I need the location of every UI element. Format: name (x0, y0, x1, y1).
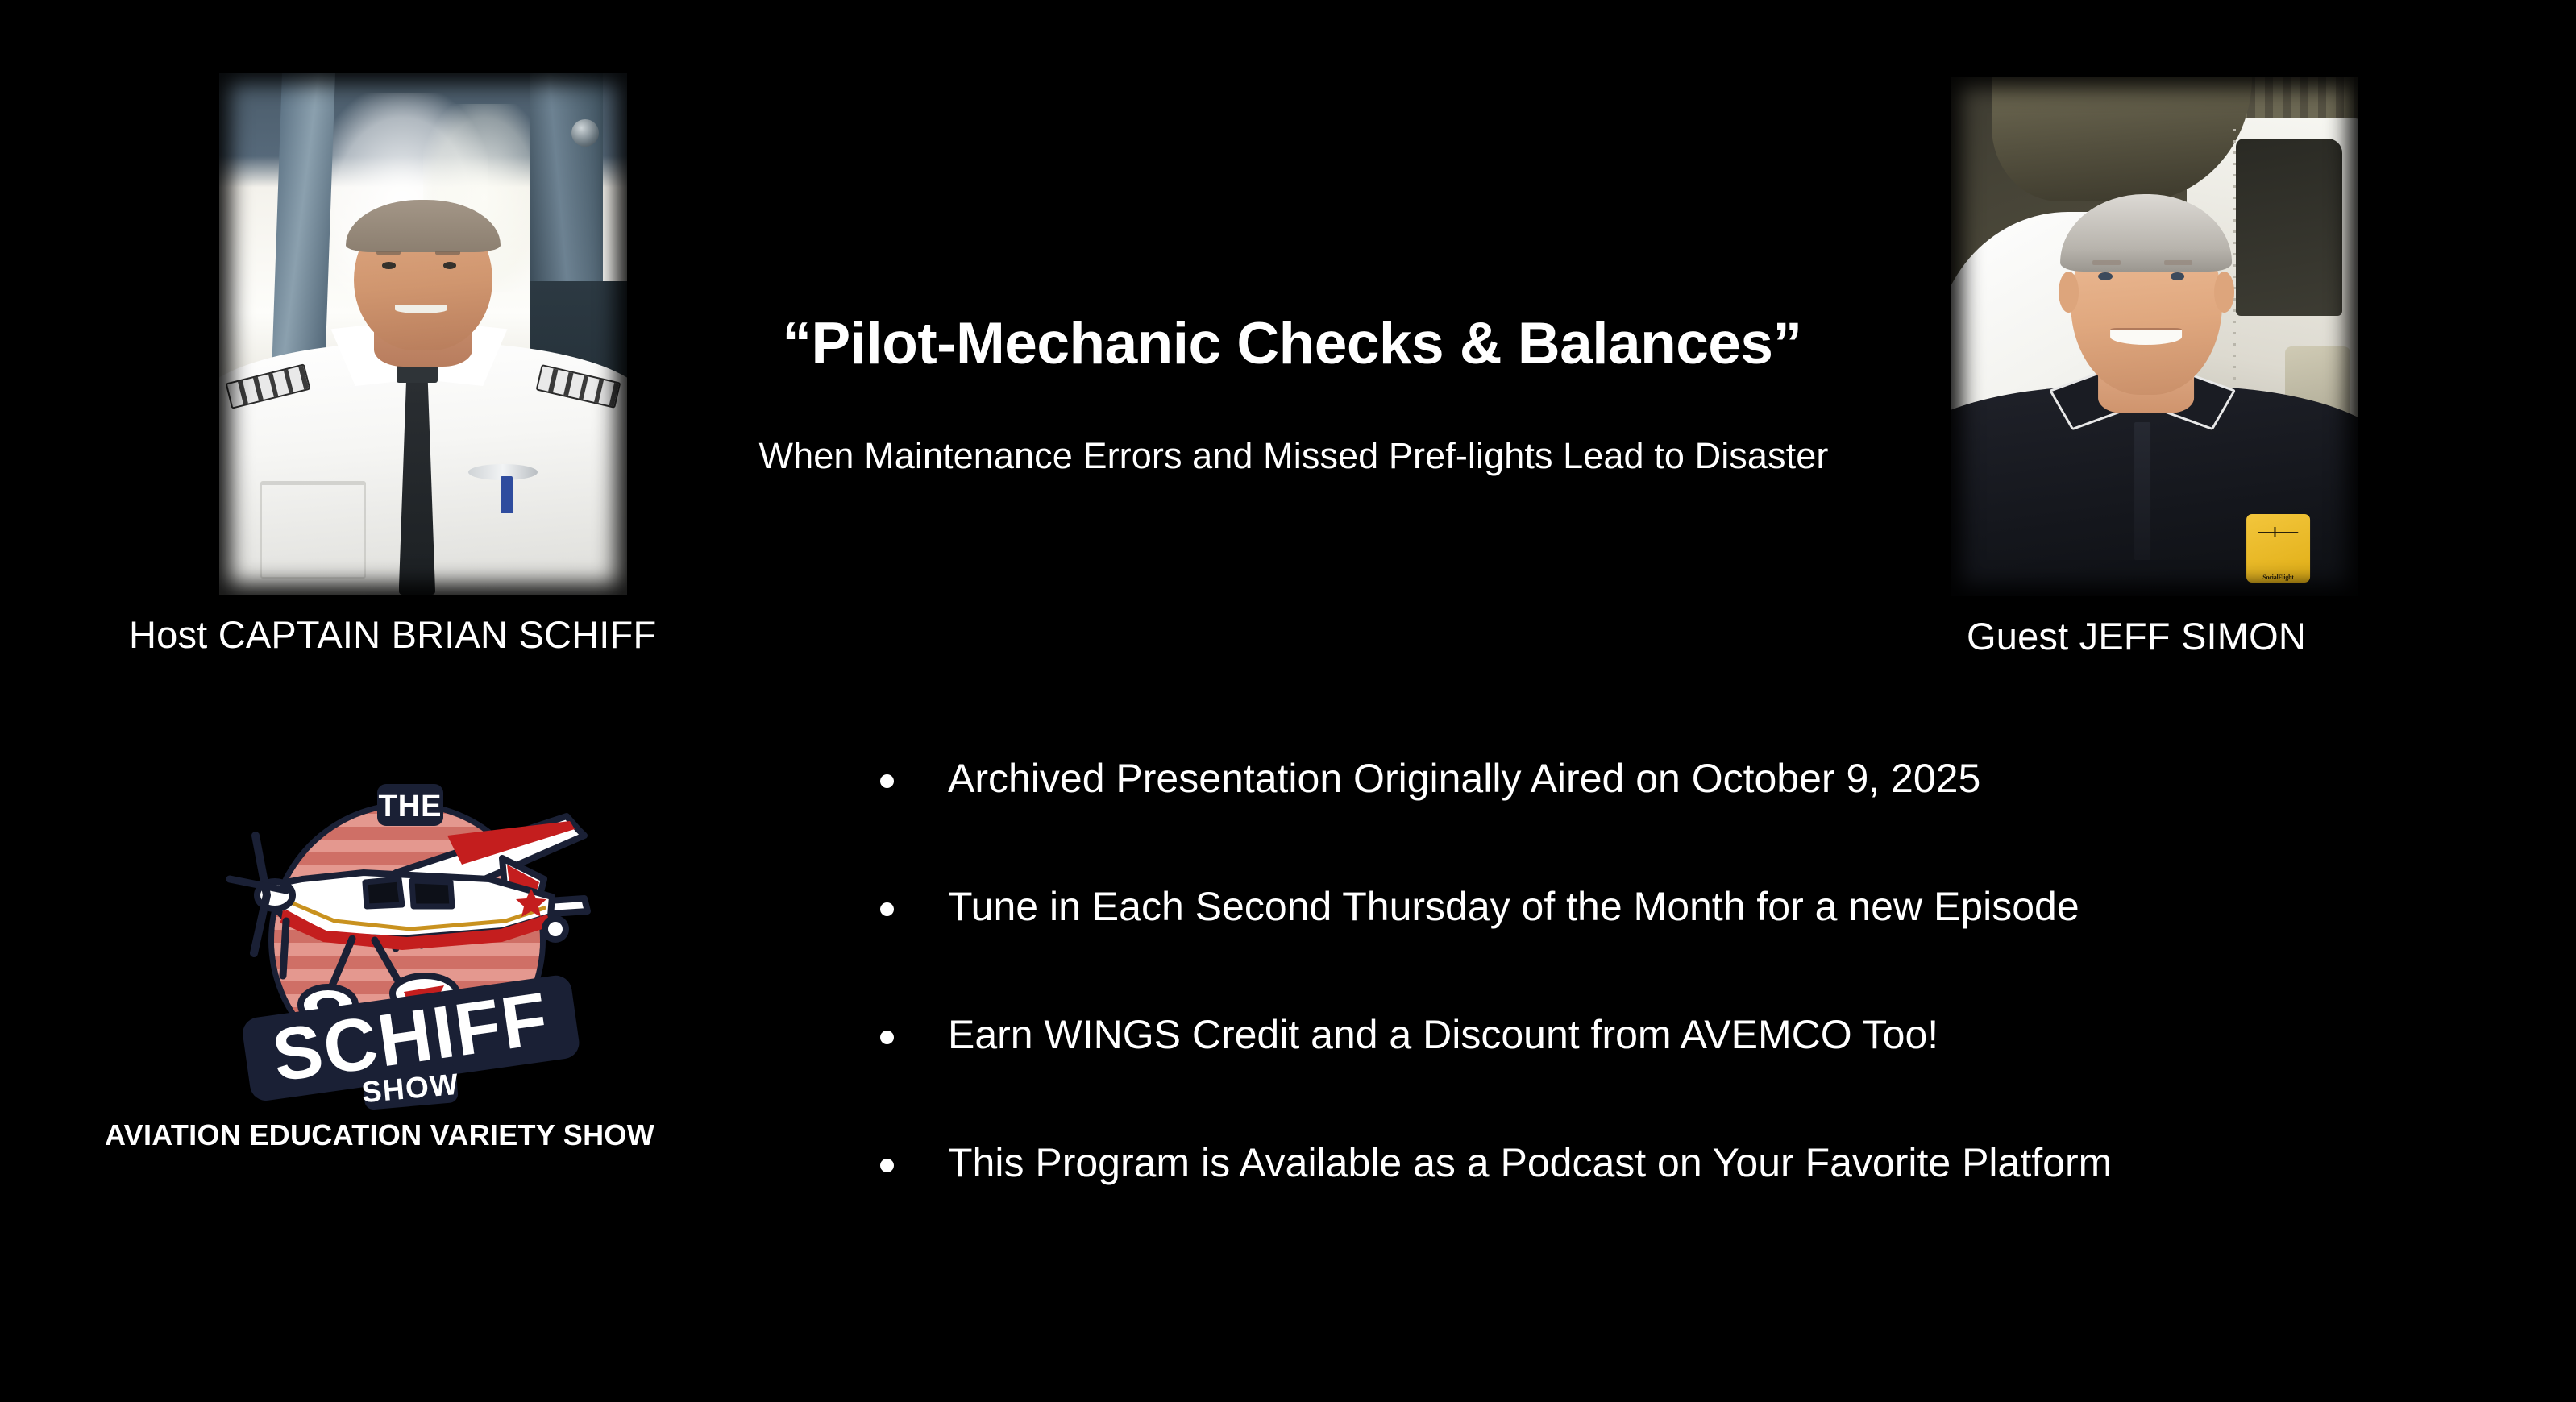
schiff-show-logo: THE (206, 737, 609, 1116)
guest-polo-placket (2134, 422, 2150, 559)
logo-show-banner: SHOW (360, 1062, 460, 1110)
guest-ear-left (2059, 272, 2079, 313)
pilot-eyebrow-right (435, 251, 459, 255)
host-photo (219, 73, 627, 595)
guest-caption: Guest JEFF SIMON (1967, 614, 2306, 658)
guest-ear-right (2214, 272, 2234, 313)
socialflight-patch: SocialFlight (2246, 514, 2310, 583)
bullet-dot-icon (880, 1159, 894, 1172)
guest-eyebrow-left (2092, 260, 2121, 265)
socialflight-airplane-icon (2258, 532, 2298, 533)
bullet-text: This Program is Available as a Podcast o… (948, 1140, 2112, 1185)
guest-figure: SocialFlight (1951, 139, 2346, 596)
logo-the-text: THE (379, 790, 442, 823)
bullet-item: Earn WINGS Credit and a Discount from AV… (869, 1012, 2481, 1057)
bullet-text: Tune in Each Second Thursday of the Mont… (948, 884, 2079, 929)
slide-title: “Pilot-Mechanic Checks & Balances” (675, 313, 1909, 376)
logo-tagline: AVIATION EDUCATION VARIETY SHOW (105, 1118, 750, 1152)
pilot-smile (395, 305, 448, 313)
slide-subtitle: When Maintenance Errors and Missed Pref-… (564, 435, 2023, 477)
bullet-item: Archived Presentation Originally Aired o… (869, 756, 2481, 801)
bullet-text: Archived Presentation Originally Aired o… (948, 756, 1980, 801)
schiff-show-logo-svg: THE (206, 737, 609, 1116)
pilot-eyebrow-left (376, 251, 401, 255)
cockpit-knob-icon (571, 119, 599, 147)
host-caption: Host CAPTAIN BRIAN SCHIFF (129, 612, 656, 657)
bullet-item: This Program is Available as a Podcast o… (869, 1140, 2481, 1185)
bullet-list: Archived Presentation Originally Aired o… (869, 756, 2481, 1185)
pilot-hair (346, 200, 501, 253)
guest-photo: SocialFlight (1951, 77, 2358, 596)
presentation-slide: SocialFlight Host CAPTAIN BRIAN SCHIFF G… (0, 0, 2576, 1402)
pilot-figure (219, 188, 627, 595)
host-photo-image (219, 73, 627, 595)
bullet-dot-icon (880, 902, 894, 916)
pilot-pen (501, 476, 513, 512)
pilot-shirt-pocket (260, 481, 367, 579)
logo-the-banner: THE (377, 784, 443, 826)
bullet-item: Tune in Each Second Thursday of the Mont… (869, 884, 2481, 929)
bullet-dot-icon (880, 774, 894, 788)
pilot-eye-left (382, 262, 395, 269)
guest-eye-right (2171, 272, 2185, 280)
guest-eyebrow-right (2164, 260, 2192, 265)
bullet-dot-icon (880, 1031, 894, 1044)
guest-photo-image: SocialFlight (1951, 77, 2358, 596)
socialflight-patch-label: SocialFlight (2262, 574, 2294, 583)
guest-eye-left (2098, 272, 2113, 280)
bullet-text: Earn WINGS Credit and a Discount from AV… (948, 1012, 1938, 1057)
guest-hair (2060, 194, 2232, 272)
